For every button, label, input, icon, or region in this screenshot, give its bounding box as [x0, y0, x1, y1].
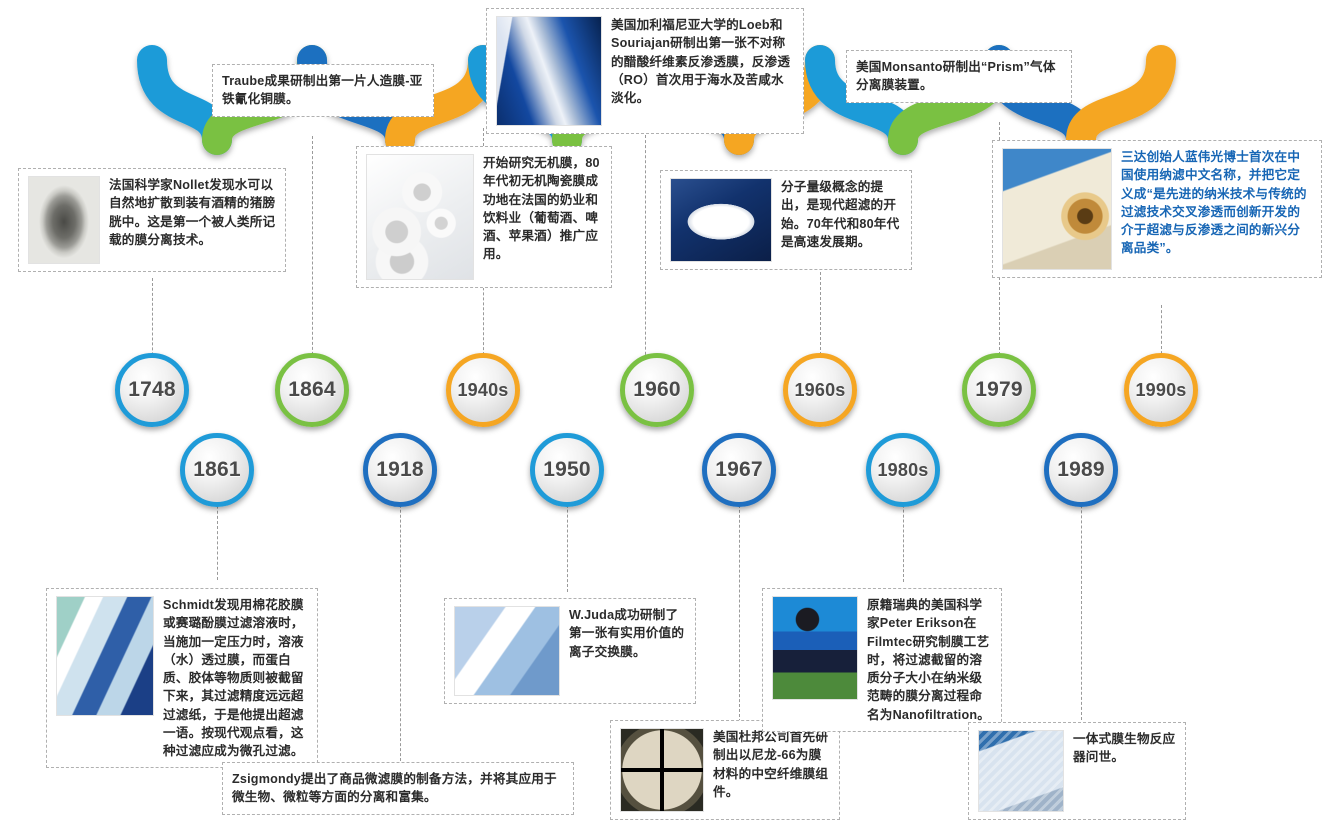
leader-1989 [1081, 470, 1082, 720]
schmidt-membrane-thumbnail [56, 596, 154, 716]
timeline-node-label: 1861 [193, 458, 241, 482]
callout-1748[interactable]: 法国科学家Nollet发现水可以自然地扩散到装有酒精的猪膀胱中。这是第一个被人类… [18, 168, 286, 272]
callout-1989[interactable]: 一体式膜生物反应器问世。 [968, 722, 1186, 820]
timeline-node-label: 1960s [794, 380, 845, 401]
callout-text: 一体式膜生物反应器问世。 [1073, 730, 1176, 767]
callout-text: 开始研究无机膜，80年代初无机陶瓷膜成功地在法国的奶业和饮料业（葡萄酒、啤酒、苹… [483, 154, 602, 264]
mbr-reactor-thumbnail [978, 730, 1064, 812]
timeline-node-label: 1980s [877, 460, 928, 481]
callout-text: Traube成果研制出第一片人造膜-亚铁氰化铜膜。 [222, 72, 424, 109]
callout-text: 美国Monsanto研制出“Prism”气体分离膜装置。 [856, 58, 1062, 95]
callout-1967[interactable]: 美国杜邦公司首先研制出以尼龙-66为膜材料的中空纤维膜组件。 [610, 720, 840, 820]
timeline-node-label: 1748 [128, 378, 176, 402]
callout-text: 分子量级概念的提出，是现代超滤的开始。70年代和80年代是高速发展期。 [781, 178, 902, 251]
spiral-wound-element-thumbnail [1002, 148, 1112, 270]
leader-1918 [400, 470, 401, 766]
callout-1861[interactable]: Schmidt发现用棉花胶膜或赛璐酚膜过滤溶液时，当施加一定压力时，溶液（水）透… [46, 588, 318, 768]
callout-text: 美国杜邦公司首先研制出以尼龙-66为膜材料的中空纤维膜组件。 [713, 728, 830, 801]
callout-text: 法国科学家Nollet发现水可以自然地扩散到装有酒精的猪膀胱中。这是第一个被人类… [109, 176, 276, 249]
nanofiltration-thumbnail [772, 596, 858, 700]
timeline-node-1960[interactable]: 1960 [620, 353, 694, 427]
timeline-node-label: 1979 [975, 378, 1023, 402]
timeline-node-1967[interactable]: 1967 [702, 433, 776, 507]
flat-sheet-module-thumbnail [670, 178, 772, 262]
ceramic-membrane-thumbnail [366, 154, 474, 280]
nollet-portrait-thumbnail [28, 176, 100, 264]
callout-text: Zsigmondy提出了商品微滤膜的制备方法，并将其应用于微生物、微粒等方面的分… [232, 770, 564, 807]
callout-text: 美国加利福尼亚大学的Loeb和Souriajan研制出第一张不对称的醋酸纤维素反… [611, 16, 794, 107]
callout-1960[interactable]: 美国加利福尼亚大学的Loeb和Souriajan研制出第一张不对称的醋酸纤维素反… [486, 8, 804, 134]
timeline-node-1861[interactable]: 1861 [180, 433, 254, 507]
callout-1918[interactable]: Zsigmondy提出了商品微滤膜的制备方法，并将其应用于微生物、微粒等方面的分… [222, 762, 574, 815]
callout-1864[interactable]: Traube成果研制出第一片人造膜-亚铁氰化铜膜。 [212, 64, 434, 117]
timeline-node-1918[interactable]: 1918 [363, 433, 437, 507]
timeline-node-1990s[interactable]: 1990s [1124, 353, 1198, 427]
callout-1979[interactable]: 美国Monsanto研制出“Prism”气体分离膜装置。 [846, 50, 1072, 103]
timeline-node-label: 1918 [376, 458, 424, 482]
callout-1950[interactable]: W.Juda成功研制了第一张有实用价值的离子交换膜。 [444, 598, 696, 704]
timeline-node-1940s[interactable]: 1940s [446, 353, 520, 427]
callout-text: 三达创始人蓝伟光博士首次在中国使用纳滤中文名称，并把它定义成“是先进的纳米技术与… [1121, 148, 1312, 258]
timeline-node-label: 1864 [288, 378, 336, 402]
callout-1990s[interactable]: 三达创始人蓝伟光博士首次在中国使用纳滤中文名称，并把它定义成“是先进的纳米技术与… [992, 140, 1322, 278]
leader-1967 [739, 470, 740, 722]
timeline-node-1960s[interactable]: 1960s [783, 353, 857, 427]
callout-text: Schmidt发现用棉花胶膜或赛璐酚膜过滤溶液时，当施加一定压力时，溶液（水）透… [163, 596, 308, 760]
leader-1960 [645, 130, 646, 390]
callout-text: W.Juda成功研制了第一张有实用价值的离子交换膜。 [569, 606, 686, 661]
timeline-node-label: 1950 [543, 458, 591, 482]
timeline-node-1979[interactable]: 1979 [962, 353, 1036, 427]
timeline-node-1864[interactable]: 1864 [275, 353, 349, 427]
timeline-node-label: 1989 [1057, 458, 1105, 482]
timeline-node-label: 1967 [715, 458, 763, 482]
callout-1940s[interactable]: 开始研究无机膜，80年代初无机陶瓷膜成功地在法国的奶业和饮料业（葡萄酒、啤酒、苹… [356, 146, 612, 288]
timeline-node-1980s[interactable]: 1980s [866, 433, 940, 507]
timeline-node-label: 1990s [1135, 380, 1186, 401]
timeline-node-label: 1940s [457, 380, 508, 401]
timeline-node-label: 1960 [633, 378, 681, 402]
leader-1864 [312, 136, 313, 390]
timeline-node-1748[interactable]: 1748 [115, 353, 189, 427]
ion-exchange-membrane-thumbnail [454, 606, 560, 696]
timeline-node-1989[interactable]: 1989 [1044, 433, 1118, 507]
callout-1960s[interactable]: 分子量级概念的提出，是现代超滤的开始。70年代和80年代是高速发展期。 [660, 170, 912, 270]
hollow-fiber-module-thumbnail [620, 728, 704, 812]
timeline-node-1950[interactable]: 1950 [530, 433, 604, 507]
ro-membrane-roll-thumbnail [496, 16, 602, 126]
timeline-infographic: 1748 1861 1864 1918 1940s 1950 1960 1967… [0, 0, 1340, 840]
callout-1980s[interactable]: 原籍瑞典的美国科学家Peter Erikson在Filmtec研究制膜工艺时，将… [762, 588, 1002, 732]
callout-text: 原籍瑞典的美国科学家Peter Erikson在Filmtec研究制膜工艺时，将… [867, 596, 992, 724]
